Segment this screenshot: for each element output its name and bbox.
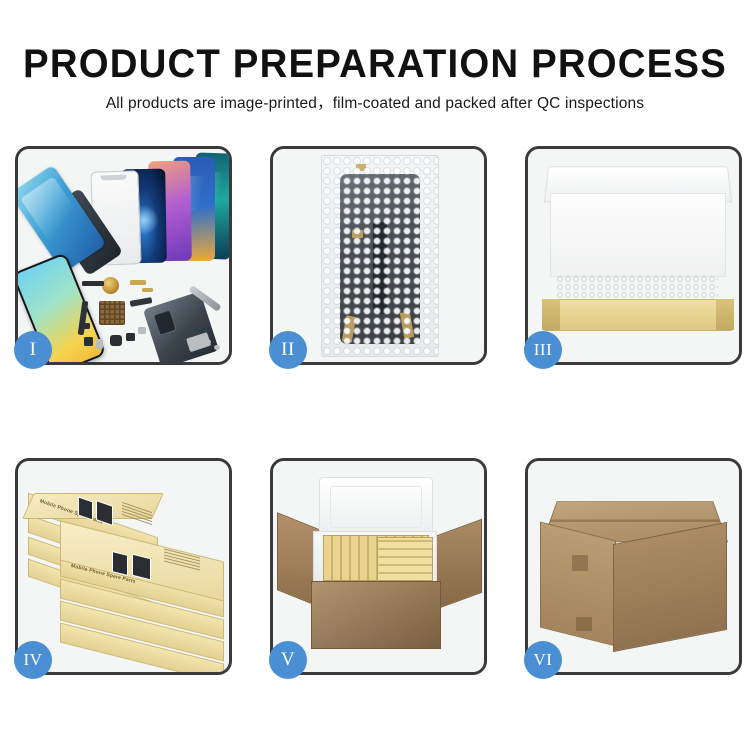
step-4-image: Mobile Phone Spare Parts Mobile Phone Sp…: [18, 461, 229, 672]
carton-front-panel: [311, 581, 441, 649]
stacked-boxes: Mobile Phone Spare Parts Mobile Phone Sp…: [26, 479, 226, 659]
box-thumb-front-2: [132, 554, 151, 581]
part-chip-3: [142, 288, 153, 292]
page-subtitle: All products are image-printed，film-coat…: [0, 84, 750, 113]
part-chip-5: [96, 339, 103, 349]
process-step-grid: I II: [15, 146, 735, 676]
process-step-5[interactable]: V: [270, 458, 487, 675]
step-badge-3: III: [524, 331, 562, 369]
phone-parts-scene: [18, 149, 229, 362]
speaker-coil-part: [102, 277, 119, 294]
box-stack-scene: Mobile Phone Spare Parts Mobile Phone Sp…: [18, 461, 229, 672]
bubble-wrap-scene: [273, 149, 484, 362]
kraft-box-base: [542, 299, 734, 331]
logic-board-chip: [99, 301, 125, 325]
part-chip-1: [82, 281, 104, 286]
part-screw-2: [214, 345, 220, 350]
step-badge-2: II: [269, 331, 307, 369]
step-badge-4: IV: [14, 641, 52, 679]
step-5-image: [273, 461, 484, 672]
carton-packing-scene: [273, 461, 484, 672]
packed-boxes-row-2: [377, 537, 433, 581]
part-chip-7: [126, 333, 135, 341]
part-chip-6: [110, 335, 122, 346]
inner-box-scene: [528, 149, 739, 362]
flex-cable-horizontal: [130, 297, 153, 307]
part-chip-9: [80, 323, 90, 329]
part-chip-4: [84, 337, 93, 346]
carton-tab-upper: [572, 555, 588, 571]
step-badge-1: I: [14, 331, 52, 369]
process-step-4[interactable]: Mobile Phone Spare Parts Mobile Phone Sp…: [15, 458, 232, 675]
part-chip-2: [130, 280, 146, 285]
part-screw-1: [204, 339, 211, 345]
sealed-carton-scene: [528, 461, 739, 672]
foam-sheet: [550, 193, 726, 277]
carton-tab-lower: [576, 617, 592, 631]
step-6-image: [528, 461, 739, 672]
process-step-2[interactable]: II: [270, 146, 487, 365]
carton-right-face: [613, 522, 727, 652]
box-thumb-front-1: [112, 551, 128, 576]
bubble-wrap-bag: [321, 155, 439, 357]
step-1-image: [18, 149, 229, 362]
page-header: PRODUCT PREPARATION PROCESS All products…: [0, 0, 750, 113]
step-3-image: [528, 149, 739, 362]
foam-lid: [319, 477, 433, 537]
process-step-1[interactable]: I: [15, 146, 232, 365]
part-chip-8: [138, 327, 146, 334]
process-step-3[interactable]: III: [525, 146, 742, 365]
step-2-image: [273, 149, 484, 362]
step-badge-5: V: [269, 641, 307, 679]
bubble-texture: [322, 156, 438, 356]
page-title: PRODUCT PREPARATION PROCESS: [15, 0, 735, 84]
process-step-6[interactable]: VI: [525, 458, 742, 675]
step-badge-6: VI: [524, 641, 562, 679]
